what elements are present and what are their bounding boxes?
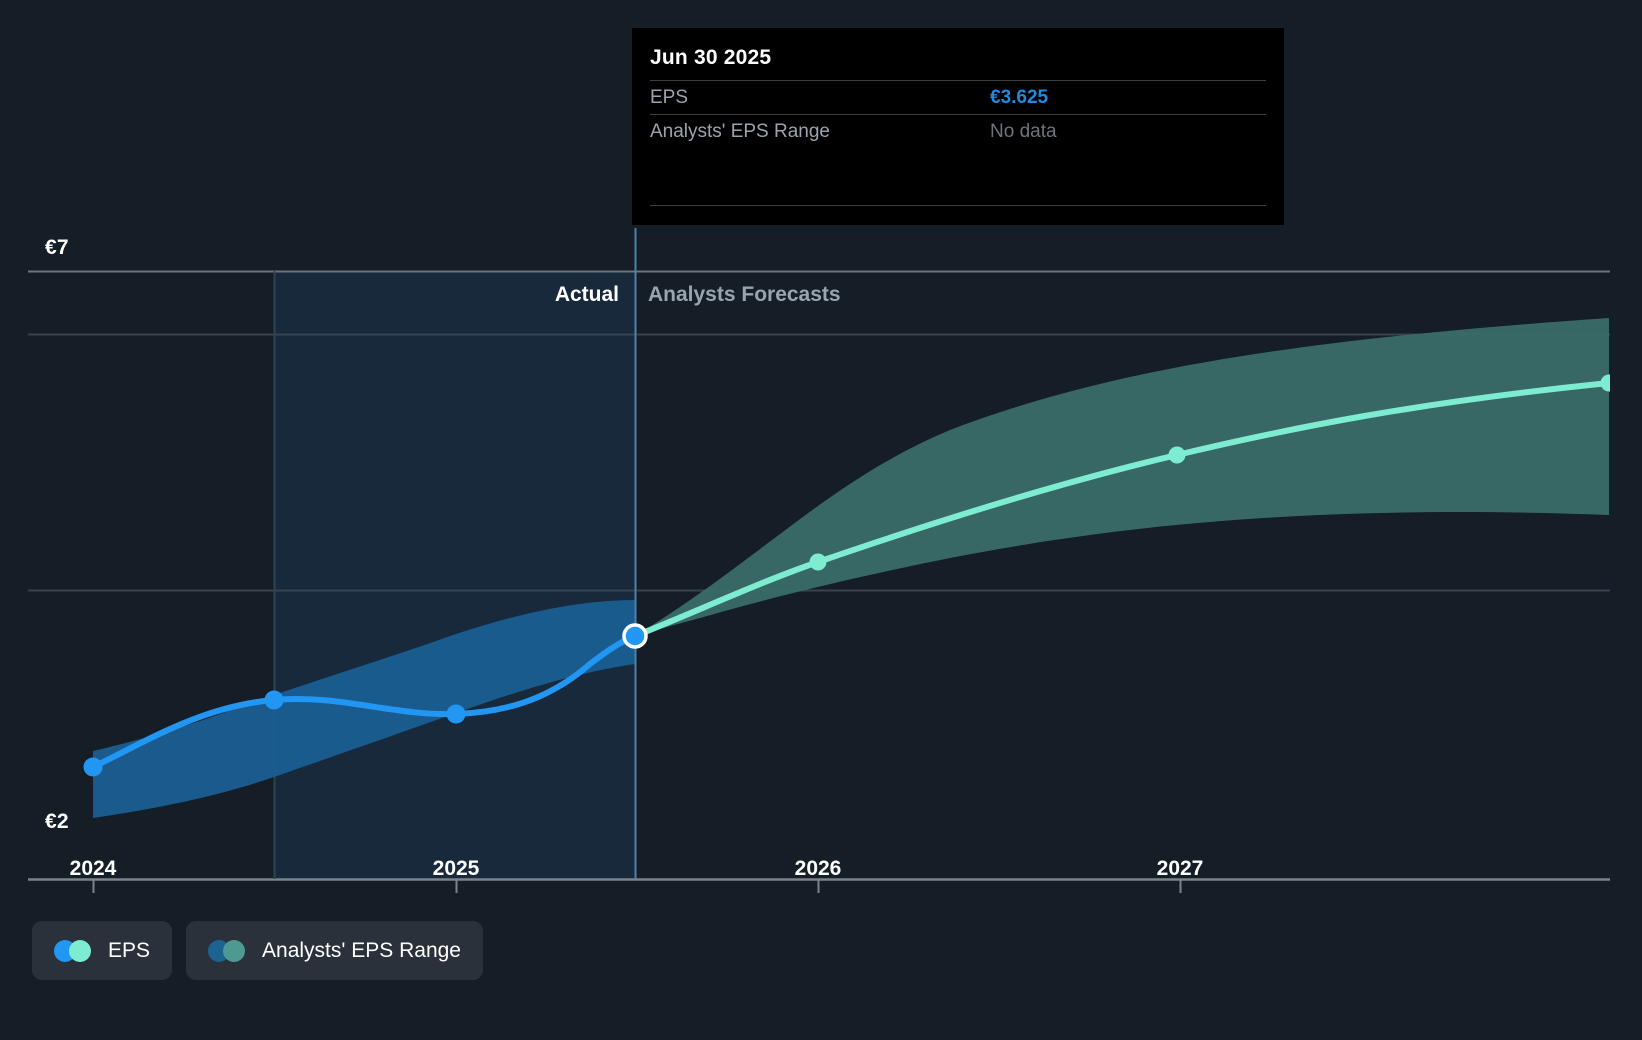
legend-item-eps[interactable]: EPS bbox=[32, 921, 172, 980]
tooltip-row-eps: EPS €3.625 bbox=[650, 80, 1266, 114]
data-point-forecast[interactable] bbox=[1169, 447, 1186, 464]
y-axis-label-top: €7 bbox=[45, 236, 69, 260]
selected-data-point[interactable] bbox=[624, 625, 646, 647]
period-label-actual: Actual bbox=[555, 283, 619, 307]
x-axis-label-2025: 2025 bbox=[433, 857, 480, 881]
x-axis-label-2027: 2027 bbox=[1157, 857, 1204, 881]
legend-label-eps: EPS bbox=[108, 939, 150, 963]
tooltip-key-eps: EPS bbox=[650, 87, 990, 109]
eps-forecast-chart[interactable]: €7 €2 2024 2025 2026 2027 Actual Analyst… bbox=[0, 0, 1642, 1040]
y-axis-label-bottom: €2 bbox=[45, 810, 69, 834]
data-point-actual[interactable] bbox=[447, 705, 466, 724]
analysts-range-band-forecast bbox=[635, 318, 1609, 636]
actual-region-background bbox=[274, 271, 635, 880]
data-point-actual[interactable] bbox=[84, 758, 103, 777]
x-axis-label-2026: 2026 bbox=[795, 857, 842, 881]
period-label-forecast: Analysts Forecasts bbox=[648, 283, 841, 307]
tooltip-row-range: Analysts' EPS Range No data bbox=[650, 114, 1266, 148]
data-point-forecast[interactable] bbox=[1601, 375, 1618, 392]
legend-swatch-eps-icon bbox=[54, 940, 94, 962]
tooltip-title: Jun 30 2025 bbox=[650, 46, 1266, 70]
legend-label-analysts-range: Analysts' EPS Range bbox=[262, 939, 461, 963]
chart-tooltip: Jun 30 2025 EPS €3.625 Analysts' EPS Ran… bbox=[632, 28, 1284, 225]
chart-legend: EPS Analysts' EPS Range bbox=[32, 921, 483, 980]
data-point-forecast[interactable] bbox=[810, 554, 827, 571]
tooltip-value-range: No data bbox=[990, 121, 1057, 143]
tooltip-spacer bbox=[650, 148, 1266, 205]
legend-item-analysts-range[interactable]: Analysts' EPS Range bbox=[186, 921, 483, 980]
x-axis-label-2024: 2024 bbox=[70, 857, 117, 881]
tooltip-bottom-rule bbox=[650, 205, 1266, 206]
data-point-actual[interactable] bbox=[265, 691, 284, 710]
tooltip-value-eps: €3.625 bbox=[990, 87, 1048, 109]
tooltip-key-range: Analysts' EPS Range bbox=[650, 121, 990, 143]
legend-swatch-analysts-range-icon bbox=[208, 940, 248, 962]
